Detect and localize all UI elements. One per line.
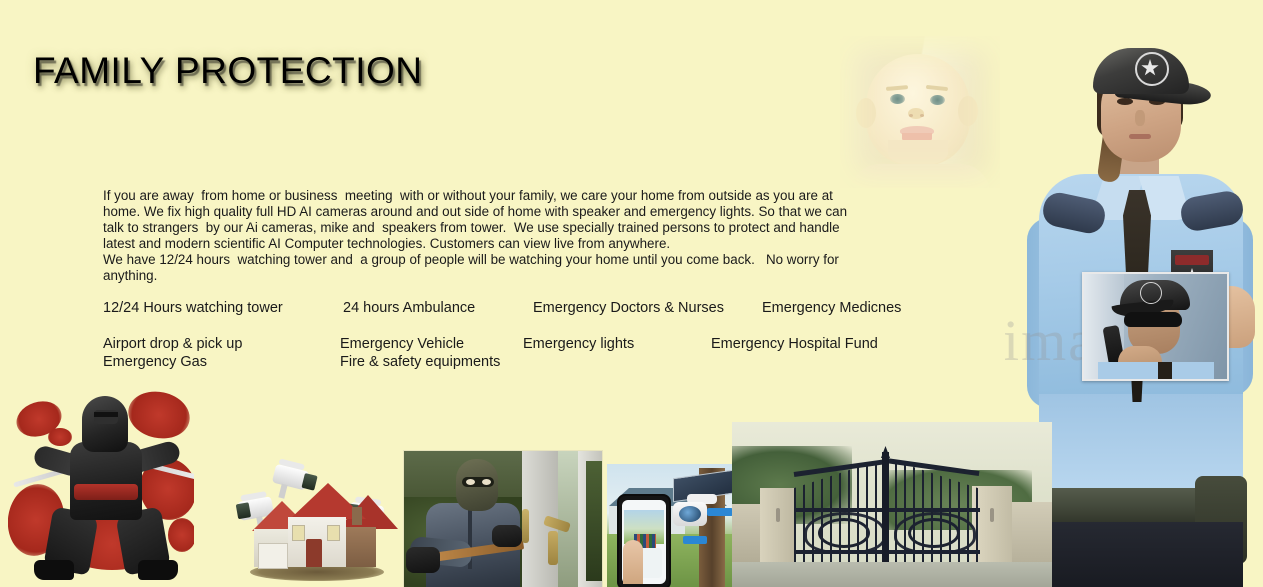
house-garage-door [258,543,288,569]
sunglasses-icon [1124,312,1182,327]
inset-guard-tie [1158,362,1172,380]
ninja-red-sash [74,484,138,500]
blood-splatter [124,388,194,444]
service-item-ambulance: 24 hours Ambulance [343,300,475,316]
page-title: FAMILY PROTECTION [33,50,423,92]
gate-lamp-right [990,508,994,522]
guard-trousers [1039,522,1243,587]
burglar-photo [403,450,603,587]
gate-wall-right [1008,502,1052,564]
live-video-feed [624,510,664,544]
guard-mouth [1129,134,1151,139]
house-door [306,539,322,567]
door-handle [522,509,529,543]
house-cctv-photo [232,455,400,587]
gate-driveway [732,562,1052,587]
ninja-hood [82,396,128,452]
service-item-emergency-gas: Emergency Gas [103,354,207,370]
services-row-3: Emergency Gas Fire & safety equipments [103,354,903,372]
baby-photo [840,36,1000,188]
burglar-glove-left [406,547,440,573]
service-item-emergency-vehicle: Emergency Vehicle [340,336,464,352]
baby-photo-fade-overlay [840,36,1000,188]
blood-splatter [48,428,72,446]
burglar-outdoor-right [586,461,602,581]
guard-eye-left [1117,98,1133,105]
gate-center-post [882,452,889,574]
guard-badge-red-band [1175,255,1209,265]
service-item-hospital-fund: Emergency Hospital Fund [711,336,878,352]
service-item-airport-drop: Airport drop & pick up [103,336,242,352]
ninja-eye-band [94,412,118,417]
star-icon [1140,282,1162,304]
ninja-boot-left [34,560,74,580]
service-item-watching-tower: 12/24 Hours watching tower [103,300,283,316]
services-list: 12/24 Hours watching tower 24 hours Ambu… [103,300,903,372]
ninja-boot-right [138,560,178,580]
service-item-fire-safety: Fire & safety equipments [340,354,500,370]
inset-guard-shirt [1098,362,1214,380]
house-window-left [292,525,305,541]
gate-pillar-right [972,486,1012,574]
star-icon [1135,52,1169,86]
blood-splatter [168,518,194,552]
services-row-2: Airport drop & pick up Emergency Vehicle… [103,336,903,354]
house-chimney [352,507,362,525]
services-row-1: 12/24 Hours watching tower 24 hours Ambu… [103,300,903,318]
solar-camera-phone-photo [607,464,733,587]
house-window-right [327,525,340,541]
house-wall-right [342,527,376,567]
camera-lens [236,502,251,519]
burglar-eye-right [482,479,491,485]
slide-canvas: FAMILY PROTECTION If you are away from h… [0,0,1263,587]
ninja-illustration [8,388,194,587]
feature-tag-upper [707,508,733,516]
burglar-eye-left [466,479,475,485]
camera-lens [679,506,701,522]
guard-radio-inset-photo [1082,272,1229,381]
feature-tag-lower [683,536,707,544]
gate-lamp-left [776,508,780,522]
ninja-torso [70,442,142,520]
body-paragraph: If you are away from home or business me… [103,188,863,283]
camera-mount [278,484,287,499]
service-item-doctors-nurses: Emergency Doctors & Nurses [533,300,724,316]
gate-scrollwork-right-inner [908,518,960,548]
service-item-emergency-lights: Emergency lights [523,336,634,352]
service-item-medicines: Emergency Medicnes [762,300,901,316]
burglar-glove-right [492,525,522,547]
iron-gate-photo [732,422,1052,587]
pointing-hand-icon [623,540,643,584]
door-glass [558,451,578,587]
gate-scrollwork-left-inner [818,518,870,548]
guard-nose [1135,110,1145,126]
door-lock-plate [548,531,558,565]
